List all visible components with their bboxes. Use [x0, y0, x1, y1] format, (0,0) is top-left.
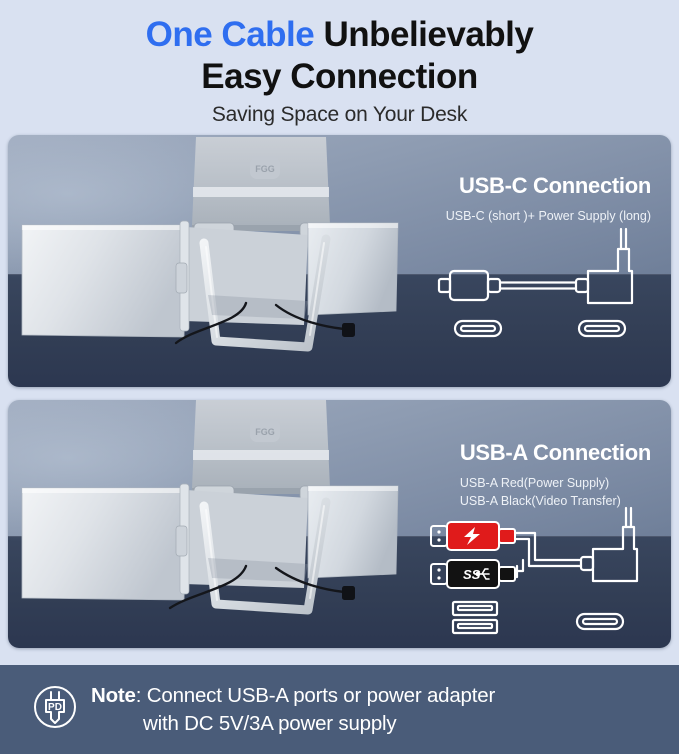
- left-extended-monitor: [22, 488, 186, 600]
- panel-usb-c-connection: FGG: [8, 135, 671, 387]
- page-subtitle: Saving Space on Your Desk: [0, 103, 679, 127]
- usb-a-port: [453, 602, 497, 615]
- title-accent-text: One Cable: [146, 15, 315, 54]
- usb-c-port-inner: [461, 326, 495, 331]
- usb-a-port-inner: [458, 624, 492, 628]
- y-split-cable-run: [515, 533, 581, 577]
- pd-icon-label: PD: [48, 702, 62, 713]
- cable-connector-tip: [342, 586, 355, 600]
- laptop-lid: FGG: [192, 137, 330, 231]
- usb-c-ports-row: [455, 321, 625, 336]
- page-title-line-1: One Cable Unbelievably: [0, 14, 679, 56]
- usb-a-power-plug-red: [431, 522, 515, 550]
- pd-plug-icon: PD: [32, 684, 78, 735]
- cable-run: [500, 283, 576, 289]
- page-title-line-2: Easy Connection: [0, 56, 679, 98]
- panel-usb-a-subtext-group: USB-A Red(Power Supply) USB-A Black(Vide…: [460, 474, 651, 510]
- panel-usb-a-heading: USB-A Connection: [460, 440, 651, 466]
- usb-c-right-angle-plug: [581, 508, 637, 581]
- title-rest-text: Unbelievably: [314, 15, 533, 54]
- brand-logo-text: FGG: [255, 427, 275, 437]
- usb-c-port-inner: [583, 619, 617, 624]
- note-bar: PD Note: Connect USB-A ports or power ad…: [0, 665, 679, 754]
- note-text-block: Note: Connect USB-A ports or power adapt…: [91, 682, 495, 736]
- usb-c-cable-diagram: [433, 245, 663, 355]
- panel-usb-a-connection: FGG: [8, 400, 671, 648]
- usb-a-data-plug-black: SS: [431, 560, 515, 588]
- usb-a-cable-diagram: SS: [423, 518, 663, 638]
- note-label: Note: [91, 684, 136, 707]
- note-separator: :: [136, 684, 147, 707]
- panel-usb-a-text-block: USB-A Connection USB-A Red(Power Supply)…: [460, 440, 651, 510]
- usb-a-port-inner: [458, 606, 492, 610]
- panel-usb-c-heading: USB-C Connection: [446, 173, 651, 199]
- cable-connector-tip: [342, 323, 355, 337]
- panel-usb-c-subtext: USB-C (short )+ Power Supply (long): [446, 207, 651, 225]
- usb-a-port: [453, 620, 497, 633]
- ports-row: [453, 602, 623, 633]
- product-triple-monitor-illustration: FGG: [8, 135, 428, 387]
- note-line-1: Connect USB-A ports or power adapter: [147, 684, 495, 707]
- usb-c-port-inner: [585, 326, 619, 331]
- usb-c-plug-left: [439, 271, 500, 300]
- note-line-2: with DC 5V/3A power supply: [91, 710, 495, 737]
- page-header: One Cable Unbelievably Easy Connection S…: [0, 0, 679, 127]
- laptop-lid: FGG: [192, 400, 330, 494]
- left-extended-monitor: [22, 225, 186, 337]
- panel-usb-c-text-block: USB-C Connection USB-C (short )+ Power S…: [446, 173, 651, 225]
- panel-usb-a-subtext-line-1: USB-A Red(Power Supply): [460, 474, 651, 492]
- brand-logo-text: FGG: [255, 164, 275, 174]
- panel-usb-a-subtext-line-2: USB-A Black(Video Transfer): [460, 492, 651, 510]
- product-triple-monitor-illustration: FGG: [8, 400, 428, 648]
